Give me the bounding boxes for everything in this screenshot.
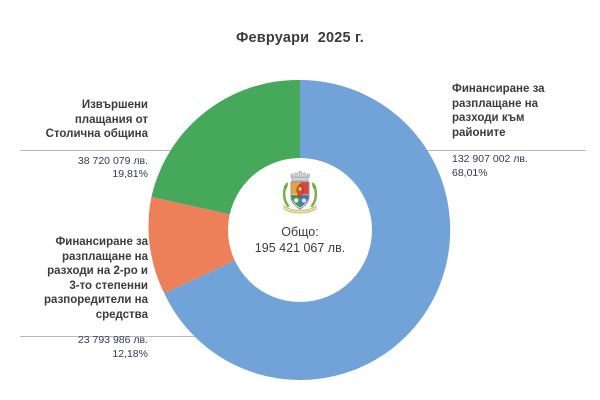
donut-graphic xyxy=(150,80,450,380)
donut-hole xyxy=(228,158,372,302)
callout-second-third-level-amount: 23 793 986 лв. xyxy=(8,334,148,348)
callout-second-third-level-percent: 12,18% xyxy=(8,348,148,362)
callout-municipality-amount: 38 720 079 лв. xyxy=(8,155,148,169)
callout-districts-values: 132 907 002 лв. 68,01% xyxy=(452,153,592,180)
callout-municipality-values: 38 720 079 лв. 19,81% xyxy=(8,155,148,182)
callout-districts-title: Финансиране за разплащане на разходи към… xyxy=(452,82,592,140)
callout-municipality: Извършени плащания от Столична община 38… xyxy=(8,98,148,182)
callout-second-third-level-title: Финансиране за разплащане на разходи на … xyxy=(8,235,148,322)
donut-chart-figure: Февруари 2025 г. xyxy=(0,0,600,400)
callout-districts: Финансиране за разплащане на разходи към… xyxy=(452,82,592,180)
callout-districts-percent: 68,01% xyxy=(452,167,592,181)
callout-municipality-title: Извършени плащания от Столична община xyxy=(8,98,148,142)
donut-svg xyxy=(150,80,450,380)
chart-title: Февруари 2025 г. xyxy=(0,30,600,46)
callout-districts-amount: 132 907 002 лв. xyxy=(452,153,592,167)
callout-second-third-level: Финансиране за разплащане на разходи на … xyxy=(8,235,148,361)
callout-second-third-level-values: 23 793 986 лв. 12,18% xyxy=(8,334,148,361)
callout-municipality-percent: 19,81% xyxy=(8,168,148,182)
